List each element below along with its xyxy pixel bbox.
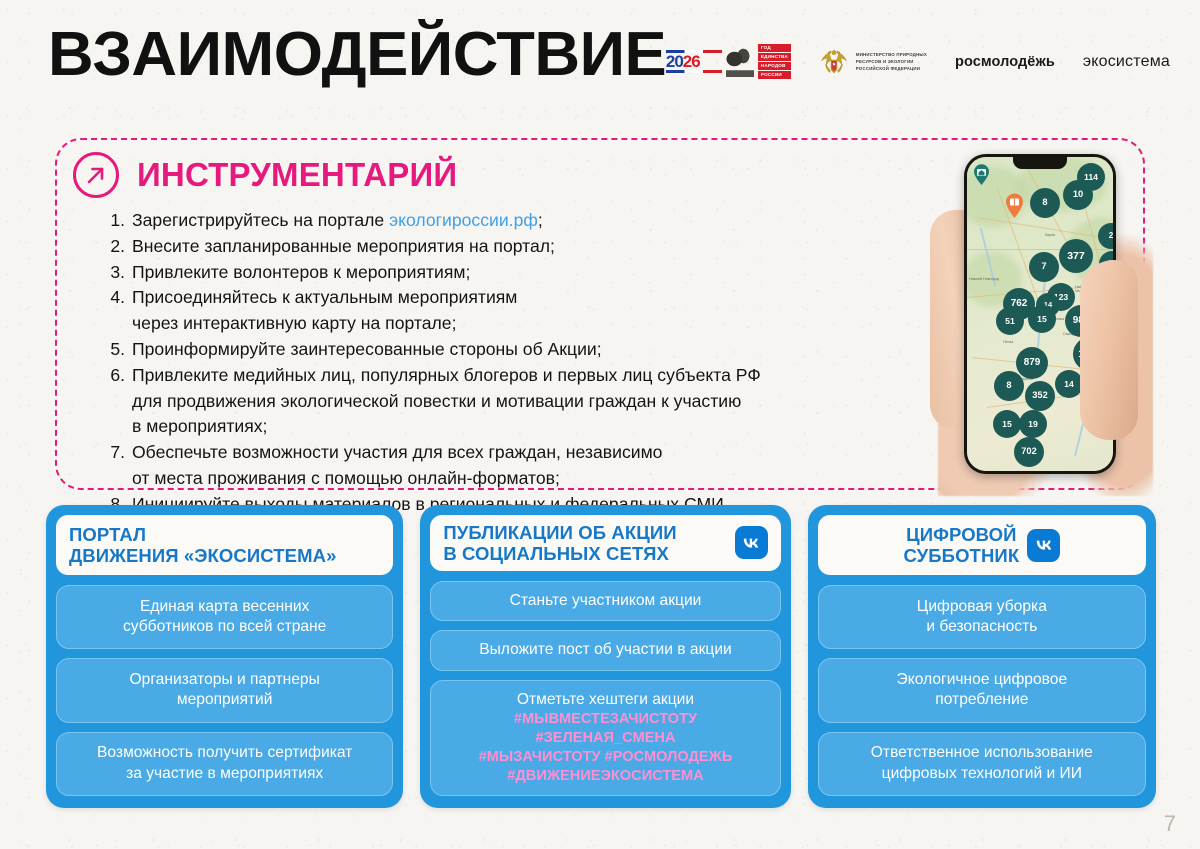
thumb-shape [1080, 260, 1138, 440]
toolkit-item-continuation: для продвижения экологической повестки и… [132, 389, 957, 441]
map-cluster-marker[interactable]: 8 [994, 371, 1024, 401]
toolkit-item-text: Внесите запланированные мероприятия на п… [132, 234, 957, 260]
card-item-hashtags: #МЫВМЕСТЕЗАЧИСТОТУ #ЗЕЛЕНАЯ_СМЕНА #МЫЗАЧ… [479, 710, 733, 786]
card-item: Организаторы и партнеры мероприятий [56, 658, 393, 722]
year-2026-logo: 2026 ГОД ЕДИНСТВА НАРОДОВ РОССИИ [666, 44, 791, 79]
card-item: Экологичное цифровое потребление [818, 658, 1146, 722]
map-cluster-marker[interactable]: 15 [1028, 305, 1056, 333]
map-city-label: Киров [1045, 233, 1055, 237]
card-item-text: Возможность получить сертификат за участ… [97, 743, 352, 784]
toolkit-item-6: 6.Привлеките медийных лиц, популярных бл… [107, 363, 957, 440]
card-item: Ответственное использование цифровых тех… [818, 732, 1146, 796]
toolkit-item-2: 2.Внесите запланированные мероприятия на… [107, 234, 957, 260]
year-2026-number-a: 20 [666, 52, 683, 71]
ministry-logo: МИНИСТЕРСТВО ПРИРОДНЫХ РЕСУРСОВ И ЭКОЛОГ… [819, 46, 927, 78]
toolkit-item-text-main: Обеспечьте возможности участия для всех … [132, 442, 662, 462]
card-item-text: Станьте участником акции [510, 591, 702, 612]
map-city-label: Пенза [1003, 340, 1013, 344]
card-item: Отметьте хештеги акции#МЫВМЕСТЕЗАЧИСТОТУ… [430, 680, 780, 797]
map-cluster-marker[interactable]: 352 [1025, 381, 1055, 411]
map-cluster-marker[interactable]: 14 [1055, 370, 1083, 398]
toolkit-item-text-main: Присоединяйтесь к актуальным мероприятия… [132, 287, 517, 307]
eco-house-badge-icon[interactable] [973, 164, 990, 185]
toolkit-item-3: 3.Привлеките волонтеров к мероприятиям; [107, 260, 957, 286]
card-item: Станьте участником акции [430, 581, 780, 622]
map-cluster-marker[interactable]: 702 [1014, 437, 1044, 467]
ministry-line-1: МИНИСТЕРСТВО ПРИРОДНЫХ [856, 52, 927, 57]
map-cluster-marker[interactable]: 879 [1016, 347, 1048, 379]
toolkit-item-5: 5.Проинформируйте заинтересованные сторо… [107, 337, 957, 363]
toolkit-item-text-main: Привлеките волонтеров к мероприятиям; [132, 262, 470, 282]
book-map-pin-icon[interactable] [1005, 193, 1024, 218]
card-item-text: Выложите пост об участии в акции [479, 640, 732, 661]
card-item: Цифровая уборка и безопасность [818, 585, 1146, 649]
card-item-text: Экологичное цифровое потребление [897, 670, 1068, 711]
toolkit-item-text-main: Внесите запланированные мероприятия на п… [132, 236, 555, 256]
map-cluster-marker[interactable]: 51 [996, 307, 1024, 335]
map-city-label: Нижний Новгород [969, 277, 999, 281]
map-cluster-marker[interactable]: 8 [1030, 188, 1060, 218]
page-title: ВЗАИМОДЕЙСТВИЕ [48, 24, 666, 86]
tricolor-bar-bottom [666, 70, 722, 73]
toolkit-item-text-main: Зарегистрируйтесь на портале [132, 210, 389, 230]
toolkit-item-text: Привлеките медийных лиц, популярных блог… [132, 363, 957, 440]
toolkit-item-text-suffix: ; [538, 210, 543, 230]
card-item: Единая карта весенних субботников по все… [56, 585, 393, 649]
card-item-text: Ответственное использование цифровых тех… [871, 743, 1093, 784]
card-item: Выложите пост об участии в акции [430, 630, 780, 671]
map-cluster-marker[interactable]: 114 [1077, 163, 1105, 191]
toolkit-header: ИНСТРУМЕНТАРИЙ [73, 152, 457, 198]
card-items-portal: Единая карта весенних субботников по все… [56, 585, 393, 796]
vk-icon[interactable] [735, 526, 768, 559]
toolkit-item-continuation: через интерактивную карту на портале; [132, 311, 957, 337]
year-logo-line-4: РОССИИ [758, 71, 791, 79]
card-title-digital: ЦИФРОВОЙ СУББОТНИК [903, 524, 1019, 566]
page-header: ВЗАИМОДЕЙСТВИЕ 2026 ГОД ЕДИНСТВА НАРОДОВ… [0, 0, 1200, 120]
phone-notch [1013, 157, 1067, 169]
monument-icon [726, 47, 754, 77]
map-cluster-marker[interactable]: 15 [993, 410, 1021, 438]
ministry-line-3: РОССИЙСКОЙ ФЕДЕРАЦИИ [856, 66, 927, 71]
logo-bar: 2026 ГОД ЕДИНСТВА НАРОДОВ РОССИИ [666, 44, 1170, 79]
card-items-digital: Цифровая уборка и безопасностьЭкологично… [818, 585, 1146, 796]
toolkit-item-continuation: от места проживания с помощью онлайн-фор… [132, 466, 957, 492]
map-cluster-marker[interactable]: 377 [1059, 239, 1093, 273]
toolkit-item-number: 7. [107, 440, 125, 492]
toolkit-list: 1.Зарегистрируйтесь на портале экологиро… [107, 208, 957, 518]
year-logo-line-2: ЕДИНСТВА [758, 53, 791, 61]
year-logo-line-3: НАРОДОВ [758, 62, 791, 70]
rosmolodezh-logo: росмолодёжь [955, 54, 1055, 70]
card-digital: ЦИФРОВОЙ СУББОТНИКЦифровая уборка и безо… [808, 505, 1156, 808]
toolkit-item-text: Зарегистрируйтесь на портале экологиросс… [132, 208, 957, 234]
toolkit-item-text-main: Проинформируйте заинтересованные стороны… [132, 339, 602, 359]
map-cluster-marker[interactable]: 7 [1029, 252, 1059, 282]
map-cluster-marker[interactable]: 19 [1019, 410, 1047, 438]
arrow-up-right-icon [73, 152, 119, 198]
toolkit-item-number: 2. [107, 234, 125, 260]
page-number: 7 [1164, 811, 1176, 837]
card-header-digital: ЦИФРОВОЙ СУББОТНИК [818, 515, 1146, 575]
card-social: ПУБЛИКАЦИИ ОБ АКЦИИ В СОЦИАЛЬНЫХ СЕТЯХСт… [420, 505, 790, 808]
phone-in-hand-photo: Нижний НовгородКировНабережные ЧелныИжев… [930, 140, 1165, 490]
double-headed-eagle-icon [819, 46, 849, 78]
toolkit-item-number: 3. [107, 260, 125, 286]
toolkit-item-number: 5. [107, 337, 125, 363]
card-item-text: Единая карта весенних субботников по все… [123, 597, 326, 638]
toolkit-item-7: 7.Обеспечьте возможности участия для все… [107, 440, 957, 492]
card-items-social: Станьте участником акцииВыложите пост об… [430, 581, 780, 797]
toolkit-item-number: 6. [107, 363, 125, 440]
toolkit-item-number: 4. [107, 285, 125, 337]
toolkit-item-number: 1. [107, 208, 125, 234]
card-item-text: Цифровая уборка и безопасность [917, 597, 1047, 638]
card-title-portal: ПОРТАЛ ДВИЖЕНИЯ «ЭКОСИСТЕМА» [69, 524, 380, 566]
year-logo-line-1: ГОД [758, 44, 791, 52]
card-item-text: Организаторы и партнеры мероприятий [130, 670, 320, 711]
toolkit-title: ИНСТРУМЕНТАРИЙ [137, 156, 457, 194]
toolkit-item-text: Обеспечьте возможности участия для всех … [132, 440, 957, 492]
card-header-portal: ПОРТАЛ ДВИЖЕНИЯ «ЭКОСИСТЕМА» [56, 515, 393, 575]
ministry-line-2: РЕСУРСОВ И ЭКОЛОГИИ [856, 59, 927, 64]
ecosystem-logo: экосистема [1083, 53, 1170, 71]
card-portal: ПОРТАЛ ДВИЖЕНИЯ «ЭКОСИСТЕМА»Единая карта… [46, 505, 403, 808]
toolkit-item-1: 1.Зарегистрируйтесь на портале экологиро… [107, 208, 957, 234]
card-header-social: ПУБЛИКАЦИИ ОБ АКЦИИ В СОЦИАЛЬНЫХ СЕТЯХ [430, 515, 780, 571]
portal-link[interactable]: экологироссии.рф [389, 210, 538, 230]
toolkit-item-text-main: Привлеките медийных лиц, популярных блог… [132, 365, 761, 385]
card-item-text: Отметьте хештеги акции [517, 690, 694, 711]
vk-icon[interactable] [1027, 529, 1060, 562]
cards-row: ПОРТАЛ ДВИЖЕНИЯ «ЭКОСИСТЕМА»Единая карта… [46, 505, 1156, 808]
card-title-social: ПУБЛИКАЦИИ ОБ АКЦИИ В СОЦИАЛЬНЫХ СЕТЯХ [443, 522, 726, 564]
toolkit-item-text: Присоединяйтесь к актуальным мероприятия… [132, 285, 957, 337]
toolkit-item-text: Привлеките волонтеров к мероприятиям; [132, 260, 957, 286]
year-2026-number-b: 26 [683, 52, 700, 71]
toolkit-item-text: Проинформируйте заинтересованные стороны… [132, 337, 957, 363]
card-item: Возможность получить сертификат за участ… [56, 732, 393, 796]
toolkit-item-4: 4.Присоединяйтесь к актуальным мероприят… [107, 285, 957, 337]
